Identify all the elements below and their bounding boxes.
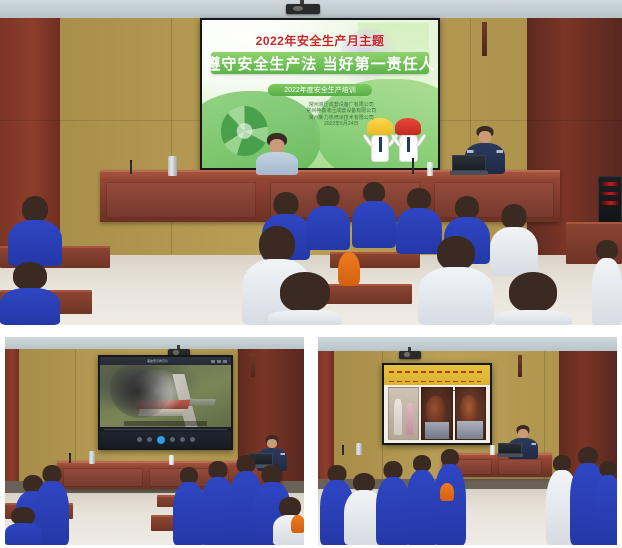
orange-safety-helmet <box>440 483 454 501</box>
volume-icon[interactable] <box>180 437 185 442</box>
conference-room-bottom-right <box>318 337 617 545</box>
photo-bottom-right <box>318 337 617 545</box>
conference-room-bottom-left: 事故警示教育片 <box>5 337 304 545</box>
audience-member <box>490 204 538 276</box>
orange-safety-helmet <box>291 515 304 533</box>
audience-member <box>592 240 622 325</box>
video-player-window[interactable]: 事故警示教育片 <box>100 357 231 448</box>
ceiling <box>5 337 304 349</box>
projector-icon <box>399 351 421 359</box>
speaker-at-podium <box>256 133 298 175</box>
wood-panel-left <box>318 351 334 479</box>
worker-mascot-red-helmet <box>396 118 422 162</box>
window-controls[interactable] <box>211 360 227 363</box>
case-photo-2 <box>421 387 452 440</box>
audience-member <box>5 507 41 545</box>
forward-icon[interactable] <box>170 437 175 442</box>
case-photo-strip <box>388 387 486 440</box>
video-player-titlebar: 事故警示教育片 <box>100 357 231 365</box>
audience-member <box>8 196 62 266</box>
projector-icon <box>286 4 320 14</box>
slide-subtitle: 2022年度安全生产培训 <box>268 84 372 96</box>
previous-icon[interactable] <box>137 437 142 442</box>
video-controls[interactable] <box>100 432 231 448</box>
audience-member <box>494 272 572 325</box>
laptop <box>498 443 522 457</box>
conference-room-top: 2022年安全生产月主题 遵守安全生产法 当好第一责任人 2022年度安全生产培… <box>0 0 622 325</box>
wall-fixture <box>518 355 522 377</box>
case-photo-1 <box>388 387 419 440</box>
photo-collage: 2022年安全生产月主题 遵守安全生产法 当好第一责任人 2022年度安全生产培… <box>0 0 622 548</box>
wood-panel-left <box>5 349 19 481</box>
microphone <box>342 445 344 455</box>
thermos <box>89 451 95 464</box>
rewind-icon[interactable] <box>147 437 152 442</box>
microphone <box>412 158 414 174</box>
slide-safety-theme: 2022年安全生产月主题 遵守安全生产法 当好第一责任人 2022年度安全生产培… <box>202 20 438 168</box>
case-slide-header <box>384 365 490 385</box>
projection-screen: 2022年安全生产月主题 遵守安全生产法 当好第一责任人 2022年度安全生产培… <box>200 18 440 170</box>
photo-bottom-left: 事故警示教育片 <box>5 337 304 545</box>
audience-member <box>376 461 410 545</box>
water-bottle <box>169 455 174 465</box>
ceiling <box>318 337 617 351</box>
projection-screen <box>382 363 492 445</box>
video-viewport <box>100 365 231 427</box>
microphone <box>130 160 132 174</box>
case-photo-3 <box>455 387 486 440</box>
video-subtitle-bar <box>124 421 208 426</box>
microphone <box>69 453 71 463</box>
water-bottle <box>490 445 495 455</box>
play-icon[interactable] <box>157 436 165 444</box>
projection-screen: 事故警示教育片 <box>98 355 233 450</box>
slide-accident-case <box>384 365 490 443</box>
thermos <box>168 156 177 176</box>
wall-fixture <box>251 353 255 377</box>
audience-member <box>594 461 617 545</box>
audience-member <box>352 182 396 248</box>
wall-seam <box>171 18 172 263</box>
video-window-title: 事故警示教育片 <box>104 359 211 363</box>
fullscreen-icon[interactable] <box>190 437 195 442</box>
photo-top: 2022年安全生产月主题 遵守安全生产法 当好第一责任人 2022年度安全生产培… <box>0 0 622 325</box>
slide-headline: 遵守安全生产法 当好第一责任人 <box>211 52 428 74</box>
slide-kicker: 2022年安全生产月主题 <box>202 32 438 49</box>
audience-member <box>306 186 350 250</box>
laptop <box>452 155 486 175</box>
audience-member <box>0 262 60 325</box>
audience-member <box>268 272 342 325</box>
water-bottle <box>427 162 433 176</box>
worker-mascot-yellow-helmet <box>367 118 393 162</box>
wall-fixture <box>482 22 487 56</box>
thermos <box>356 443 362 455</box>
audience-member <box>418 236 494 325</box>
